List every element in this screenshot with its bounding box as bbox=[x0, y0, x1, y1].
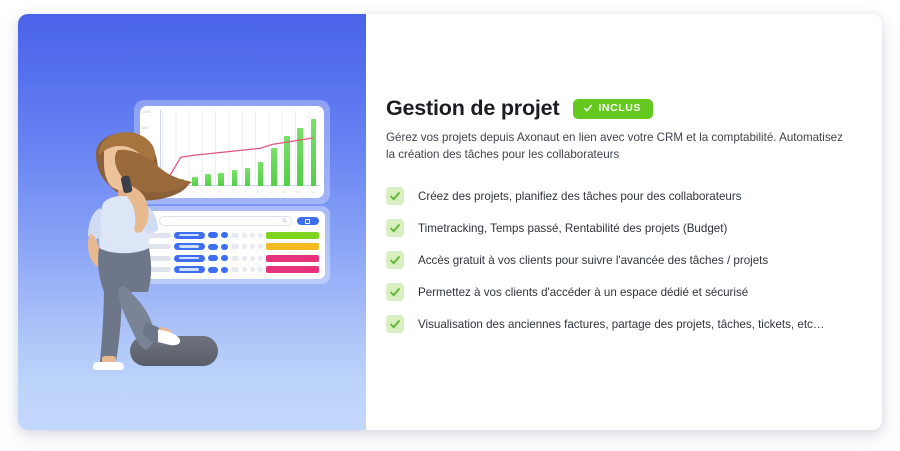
row-tag-2 bbox=[221, 232, 228, 238]
shoe-left bbox=[93, 362, 124, 370]
woman-illustration bbox=[66, 116, 196, 376]
chart-x-tick: 6 bbox=[231, 190, 233, 194]
edit-icon bbox=[305, 219, 310, 224]
page-root: 1000 600 200 0 123456789101112 bbox=[0, 0, 900, 451]
row-tag-1 bbox=[208, 244, 218, 250]
feature-item: Visualisation des anciennes factures, pa… bbox=[386, 308, 852, 340]
illustration-panel: 1000 600 200 0 123456789101112 bbox=[18, 14, 366, 430]
chart-x-tick: 8 bbox=[257, 190, 259, 194]
check-icon bbox=[386, 251, 404, 269]
status-badge-label: INCLUS bbox=[598, 103, 641, 114]
row-meta-1 bbox=[231, 233, 239, 238]
row-meta-4 bbox=[258, 244, 263, 249]
row-meta-3 bbox=[250, 233, 255, 238]
row-meta-1 bbox=[231, 256, 239, 261]
leg-standing bbox=[100, 286, 122, 362]
row-status-badge bbox=[266, 232, 319, 239]
row-meta-2 bbox=[242, 244, 247, 249]
row-tag-2 bbox=[221, 244, 228, 250]
edit-button[interactable] bbox=[297, 217, 319, 225]
feature-item: Créez des projets, planifiez des tâches … bbox=[386, 180, 852, 212]
row-meta-3 bbox=[250, 267, 255, 272]
row-tag-1 bbox=[208, 255, 218, 261]
row-meta-4 bbox=[258, 267, 263, 272]
chart-x-tick: 10 bbox=[282, 190, 285, 194]
row-tag-1 bbox=[208, 232, 218, 238]
row-meta-1 bbox=[231, 244, 239, 249]
check-icon bbox=[386, 315, 404, 333]
check-icon bbox=[386, 187, 404, 205]
row-tag-1 bbox=[208, 267, 218, 273]
page-title: Gestion de projet bbox=[386, 98, 559, 120]
row-meta-2 bbox=[242, 267, 247, 272]
feature-item: Permettez à vos clients d'accéder à un e… bbox=[386, 276, 852, 308]
row-status-badge bbox=[266, 266, 319, 273]
chart-x-tick: 11 bbox=[297, 190, 300, 194]
pants-hip bbox=[98, 248, 151, 292]
search-icon bbox=[282, 218, 287, 223]
feature-label: Permettez à vos clients d'accéder à un e… bbox=[418, 285, 748, 300]
row-meta-1 bbox=[231, 267, 239, 272]
row-status-badge bbox=[266, 243, 319, 250]
feature-card: 1000 600 200 0 123456789101112 bbox=[18, 14, 882, 430]
title-row: Gestion de projet INCLUS bbox=[386, 98, 852, 120]
row-meta-4 bbox=[258, 256, 263, 261]
row-meta-3 bbox=[250, 256, 255, 261]
row-meta-2 bbox=[242, 256, 247, 261]
chart-ylabel-1000: 1000 bbox=[142, 110, 150, 114]
feature-label: Timetracking, Temps passé, Rentabilité d… bbox=[418, 221, 727, 236]
feature-label: Créez des projets, planifiez des tâches … bbox=[418, 189, 742, 204]
row-meta-4 bbox=[258, 233, 263, 238]
feature-label: Visualisation des anciennes factures, pa… bbox=[418, 317, 824, 332]
check-icon bbox=[386, 219, 404, 237]
check-icon bbox=[386, 283, 404, 301]
feature-item: Accès gratuit à vos clients pour suivre … bbox=[386, 244, 852, 276]
leg-raised bbox=[118, 286, 154, 350]
content-panel: Gestion de projet INCLUS Gérez vos proje… bbox=[366, 14, 882, 430]
feature-list: Créez des projets, planifiez des tâches … bbox=[386, 180, 852, 340]
check-icon bbox=[583, 103, 593, 113]
row-tag-2 bbox=[221, 255, 228, 261]
chart-x-tick: 9 bbox=[270, 190, 272, 194]
feature-item: Timetracking, Temps passé, Rentabilité d… bbox=[386, 212, 852, 244]
feature-label: Accès gratuit à vos clients pour suivre … bbox=[418, 253, 768, 268]
chart-x-tick: 12 bbox=[311, 190, 314, 194]
description-text: Gérez vos projets depuis Axonaut en lien… bbox=[386, 129, 852, 165]
status-badge: INCLUS bbox=[573, 99, 653, 119]
chart-x-tick: 4 bbox=[206, 190, 208, 194]
row-tag-2 bbox=[221, 267, 228, 273]
chart-x-tick: 7 bbox=[244, 190, 246, 194]
row-meta-3 bbox=[250, 244, 255, 249]
row-status-badge bbox=[266, 255, 319, 262]
chart-x-tick: 5 bbox=[219, 190, 221, 194]
row-meta-2 bbox=[242, 233, 247, 238]
